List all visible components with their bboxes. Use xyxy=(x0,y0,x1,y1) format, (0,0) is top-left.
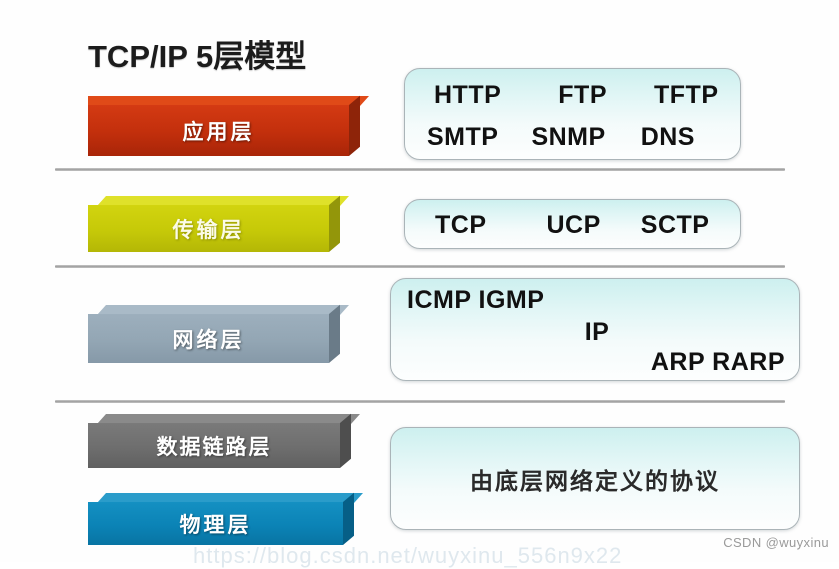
tcpip-five-layer-diagram: TCP/IP 5层模型 应用层 HTTP FTP TFTP SMTP SNMP … xyxy=(0,0,839,562)
layer-label-application: 应用层 xyxy=(183,116,255,146)
divider-transport-network xyxy=(55,265,785,268)
url-watermark: https://blog.csdn.net/wuyxinu_556n9x22 xyxy=(193,543,622,569)
layer-label-physical: 物理层 xyxy=(180,509,252,539)
layer-label-transport: 传输层 xyxy=(173,214,245,244)
layer-side-face-data-link xyxy=(340,423,351,468)
protocol-row-lower-layers: 由底层网络定义的协议 xyxy=(391,428,799,529)
protocol-box-transport[interactable]: TCP UCP SCTP xyxy=(404,199,741,249)
layer-face-physical: 物理层 xyxy=(88,502,343,545)
layer-block-network[interactable]: 网络层 xyxy=(88,305,340,363)
layer-face-data-link: 数据链路层 xyxy=(88,423,340,468)
protocol-snmp: SNMP xyxy=(531,123,605,152)
protocol-icmp-igmp: ICMP IGMP xyxy=(407,286,544,315)
layer-block-transport[interactable]: 传输层 xyxy=(88,196,340,252)
protocol-ftp: FTP xyxy=(558,81,607,110)
protocol-arp-rarp: ARP RARP xyxy=(651,348,785,377)
layer-face-transport: 传输层 xyxy=(88,205,329,252)
layer-label-network: 网络层 xyxy=(173,324,245,354)
protocol-ip: IP xyxy=(585,318,610,347)
protocol-dns: DNS xyxy=(641,123,695,152)
layer-side-face-physical xyxy=(343,502,354,545)
protocol-http: HTTP xyxy=(434,81,501,110)
protocol-sctp: SCTP xyxy=(641,211,710,240)
protocol-tcp: TCP xyxy=(435,211,487,240)
protocol-row-transport-1: TCP UCP SCTP xyxy=(405,204,740,246)
layer-face-application: 应用层 xyxy=(88,105,349,156)
protocol-smtp: SMTP xyxy=(427,123,498,152)
divider-application-transport xyxy=(55,168,785,171)
protocol-tftp: TFTP xyxy=(654,81,719,110)
page-title: TCP/IP 5层模型 xyxy=(88,31,306,76)
layer-block-physical[interactable]: 物理层 xyxy=(88,493,354,545)
protocol-ucp: UCP xyxy=(547,211,601,240)
protocol-lower-layer-note: 由底层网络定义的协议 xyxy=(470,462,720,496)
layer-block-application[interactable]: 应用层 xyxy=(88,96,360,156)
csdn-watermark: CSDN @wuyxinu xyxy=(723,535,829,550)
protocol-row-application-2: SMTP SNMP DNS xyxy=(405,117,740,157)
protocol-row-network-2: IP xyxy=(391,315,799,349)
protocol-box-network[interactable]: ICMP IGMP IP ARP RARP xyxy=(390,278,800,381)
layer-block-data-link[interactable]: 数据链路层 xyxy=(88,414,351,468)
protocol-row-application-1: HTTP FTP TFTP xyxy=(405,75,740,115)
layer-side-face-network xyxy=(329,314,340,363)
layer-label-data-link: 数据链路层 xyxy=(157,431,272,461)
protocol-row-network-3: ARP RARP xyxy=(391,345,799,379)
protocol-row-network-1: ICMP IGMP xyxy=(391,283,799,317)
protocol-box-application[interactable]: HTTP FTP TFTP SMTP SNMP DNS xyxy=(404,68,741,160)
layer-side-face-application xyxy=(349,105,360,156)
protocol-box-lower-layers[interactable]: 由底层网络定义的协议 xyxy=(390,427,800,530)
divider-network-datalink xyxy=(55,400,785,403)
layer-side-face-transport xyxy=(329,205,340,252)
layer-face-network: 网络层 xyxy=(88,314,329,363)
